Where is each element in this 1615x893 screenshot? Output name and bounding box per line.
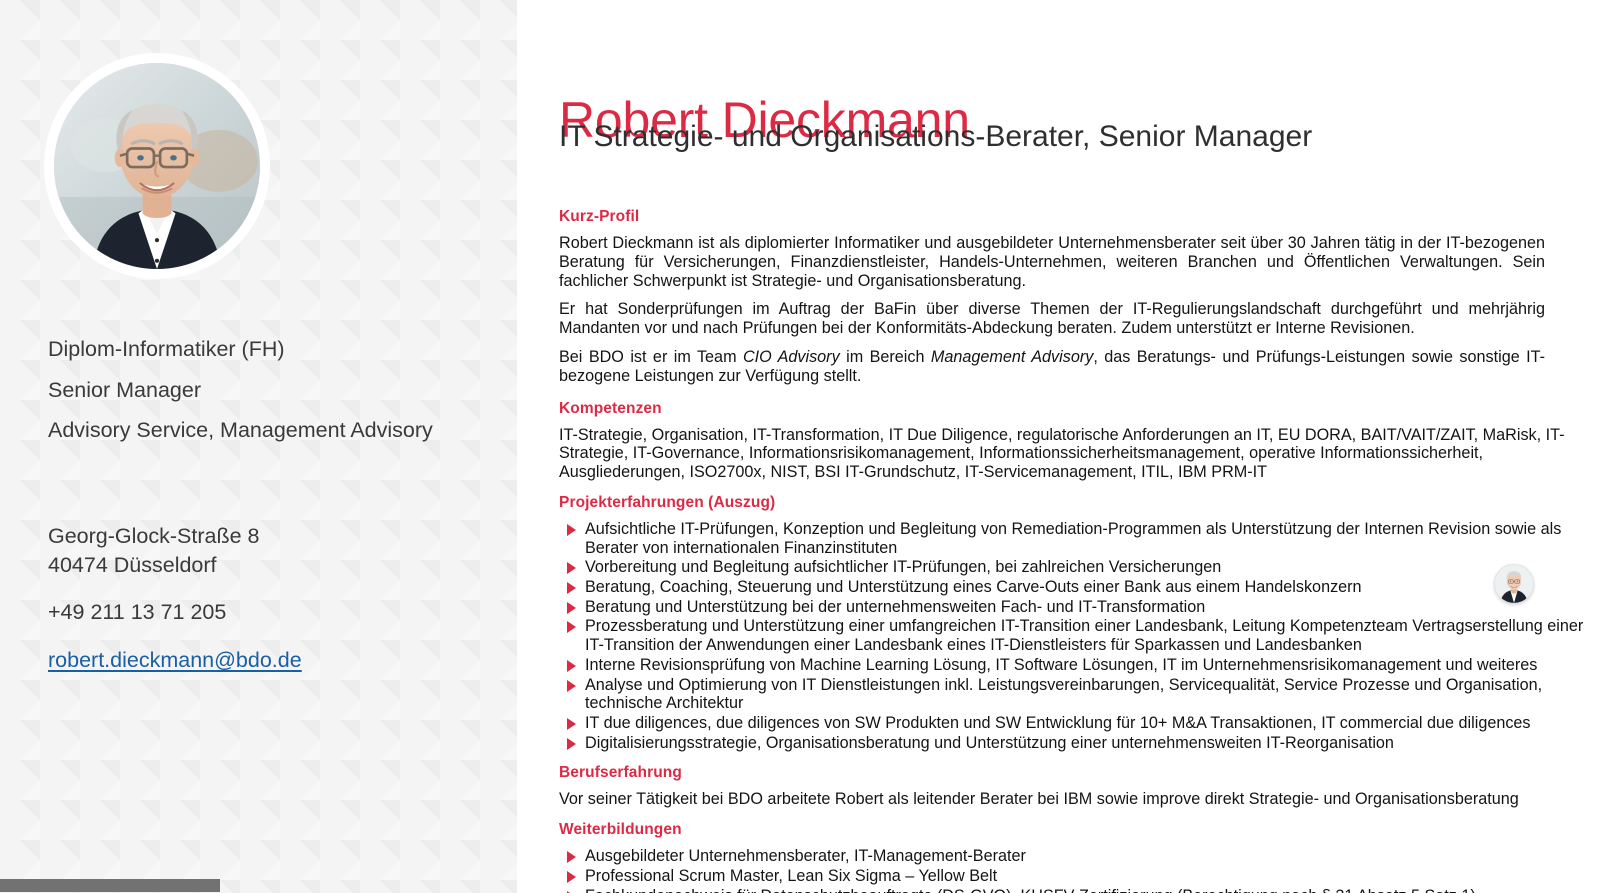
email-link[interactable]: robert.dieckmann@bdo.de [48, 646, 302, 675]
list-item: Vorbereitung und Begleitung aufsichtlich… [559, 558, 1589, 577]
credential-line: Diplom-Informatiker (FH) [48, 335, 448, 365]
sidebar-content: Diplom-Informatiker (FH) Senior Manager … [0, 0, 517, 893]
profile-sidebar: Diplom-Informatiker (FH) Senior Manager … [0, 0, 517, 893]
list-item: Prozessberatung und Unterstützung einer … [559, 617, 1589, 654]
list-item-label: Interne Revisionsprüfung von Machine Lea… [585, 656, 1537, 674]
section-heading-projekterfahrungen: Projekterfahrungen (Auszug) [559, 494, 1615, 511]
floating-avatar-icon[interactable] [1494, 564, 1534, 604]
phone-number: +49 211 13 71 205 [48, 598, 468, 627]
triangle-bullet-icon [567, 680, 576, 692]
triangle-bullet-icon [567, 718, 576, 730]
list-item-label: Vorbereitung und Begleitung aufsichtlich… [585, 558, 1221, 576]
projekterfahrungen-list: Aufsichtliche IT-Prüfungen, Konzeption u… [559, 520, 1589, 752]
triangle-bullet-icon [567, 621, 576, 633]
list-item-label: Beratung, Coaching, Steuerung und Unters… [585, 578, 1362, 596]
list-item: Beratung und Unterstützung bei der unter… [559, 598, 1589, 617]
section-heading-kompetenzen: Kompetenzen [559, 400, 1615, 417]
credentials-block: Diplom-Informatiker (FH) Senior Manager … [48, 335, 448, 446]
kurz-profil-paragraph-3: Bei BDO ist er im Team CIO Advisory im B… [559, 348, 1545, 386]
list-item-label: Ausgebildeter Unternehmensberater, IT-Ma… [585, 847, 1026, 865]
list-item-label: Digitalisierungsstrategie, Organisations… [585, 734, 1394, 752]
address-line-1: Georg-Glock-Straße 8 [48, 522, 468, 551]
horizontal-scrollbar-thumb[interactable] [0, 879, 220, 892]
triangle-bullet-icon [567, 562, 576, 574]
triangle-bullet-icon [567, 602, 576, 614]
kurz-profil-paragraph-2: Er hat Sonderprüfungen im Auftrag der Ba… [559, 300, 1545, 338]
list-item: Beratung, Coaching, Steuerung und Unters… [559, 578, 1589, 597]
horizontal-scrollbar[interactable] [0, 879, 1615, 893]
text-run: im Bereich [840, 348, 931, 366]
triangle-bullet-icon [567, 851, 576, 863]
contact-block: Georg-Glock-Straße 8 40474 Düsseldorf +4… [48, 522, 468, 674]
berufserfahrung-text: Vor seiner Tätigkeit bei BDO arbeitete R… [559, 790, 1569, 809]
list-item: Interne Revisionsprüfung von Machine Lea… [559, 656, 1589, 675]
triangle-bullet-icon [567, 738, 576, 750]
list-item: IT due diligences, due diligences von SW… [559, 714, 1589, 733]
list-item-label: IT due diligences, due diligences von SW… [585, 714, 1531, 732]
list-item: Digitalisierungsstrategie, Organisations… [559, 734, 1589, 753]
profile-main: Robert Dieckmann IT Strategie- und Organ… [517, 0, 1615, 893]
list-item: Analyse und Optimierung von IT Dienstlei… [559, 676, 1589, 713]
list-item: Aufsichtliche IT-Prüfungen, Konzeption u… [559, 520, 1589, 557]
profile-content: Kurz-Profil Robert Dieckmann ist als dip… [559, 208, 1615, 893]
list-item-label: Analyse und Optimierung von IT Dienstlei… [585, 676, 1542, 713]
kompetenzen-text: IT-Strategie, Organisation, IT-Transform… [559, 426, 1569, 482]
job-title: IT Strategie- und Organisations-Berater,… [559, 120, 1312, 154]
italic-area-name: Management Advisory [931, 348, 1093, 366]
section-heading-berufserfahrung: Berufserfahrung [559, 764, 1615, 781]
triangle-bullet-icon [567, 524, 576, 536]
list-item: Ausgebildeter Unternehmensberater, IT-Ma… [559, 847, 1589, 866]
text-run: Bei BDO ist er im Team [559, 348, 743, 366]
credential-line: Senior Manager [48, 376, 448, 406]
avatar-ring [49, 58, 265, 274]
avatar [49, 58, 265, 274]
section-heading-weiterbildungen: Weiterbildungen [559, 821, 1615, 838]
avatar-photo [54, 63, 260, 269]
credential-line: Advisory Service, Management Advisory [48, 416, 448, 446]
resume-page: Diplom-Informatiker (FH) Senior Manager … [0, 0, 1615, 893]
triangle-bullet-icon [567, 660, 576, 672]
section-heading-kurz-profil: Kurz-Profil [559, 208, 1615, 225]
list-item-label: Beratung und Unterstützung bei der unter… [585, 598, 1205, 616]
address-line-2: 40474 Düsseldorf [48, 551, 468, 580]
list-item-label: Aufsichtliche IT-Prüfungen, Konzeption u… [585, 520, 1561, 557]
kurz-profil-paragraph-1: Robert Dieckmann ist als diplomierter In… [559, 234, 1545, 290]
italic-team-name: CIO Advisory [743, 348, 840, 366]
list-item-label: Prozessberatung und Unterstützung einer … [585, 617, 1583, 654]
triangle-bullet-icon [567, 582, 576, 594]
